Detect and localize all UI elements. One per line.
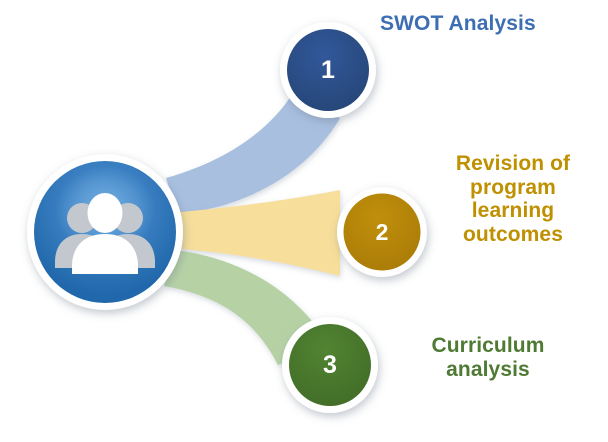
node-circle-1[interactable]: 1	[280, 22, 376, 118]
node-2-number: 2	[376, 219, 389, 245]
node-circle-2[interactable]: 2	[337, 187, 427, 277]
node-circle-3[interactable]: 3	[282, 317, 378, 413]
node-3-label: Curriculum analysis	[388, 334, 588, 381]
node-1-number: 1	[321, 56, 335, 84]
node-2-label: Revision of program learning outcomes	[424, 152, 602, 246]
node-3-number: 3	[323, 351, 337, 379]
central-hub[interactable]	[27, 154, 183, 310]
diagram-canvas: 3 2 1	[0, 0, 608, 442]
node-1-label: SWOT Analysis	[380, 12, 595, 36]
